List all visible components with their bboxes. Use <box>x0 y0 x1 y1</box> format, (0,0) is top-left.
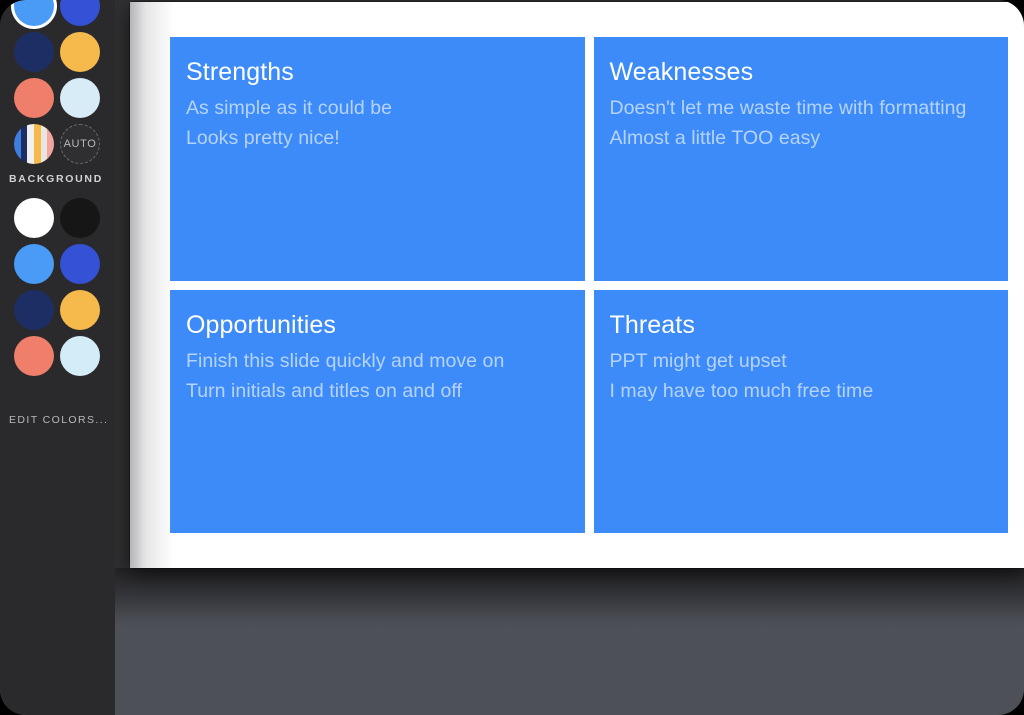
stripe-1 <box>21 124 28 164</box>
quadrant-title-threats: Threats <box>610 312 985 338</box>
theme-color-amber[interactable] <box>60 32 100 72</box>
workspace-area <box>0 568 1024 715</box>
theme-color-royal-blue[interactable] <box>60 0 100 26</box>
background-color-swatch-grid <box>14 198 100 376</box>
stripe-4 <box>41 124 48 164</box>
auto-label: AUTO <box>64 138 97 150</box>
quadrant-line-opportunities-1: Finish this slide quickly and move on <box>186 347 561 377</box>
stripe-3 <box>34 124 41 164</box>
stripe-0 <box>14 124 21 164</box>
slide-canvas[interactable]: Strengths As simple as it could be Looks… <box>130 2 1024 568</box>
theme-color-light-blue[interactable] <box>14 0 54 26</box>
background-color-dark-navy[interactable] <box>14 290 54 330</box>
window-shell: Strengths As simple as it could be Looks… <box>0 0 1024 715</box>
background-color-salmon[interactable] <box>14 336 54 376</box>
swot-grid: Strengths As simple as it could be Looks… <box>170 37 1008 533</box>
edit-colors-button[interactable]: EDIT COLORS... <box>9 414 108 426</box>
theme-color-auto[interactable]: AUTO <box>60 124 100 164</box>
slide-container[interactable]: Strengths As simple as it could be Looks… <box>130 2 1024 568</box>
quadrant-title-strengths: Strengths <box>186 59 561 85</box>
background-color-amber[interactable] <box>60 290 100 330</box>
quadrant-threats[interactable]: Threats PPT might get upset I may have t… <box>594 290 1009 534</box>
background-color-light-blue[interactable] <box>14 244 54 284</box>
quadrant-line-weaknesses-2: Almost a little TOO easy <box>610 124 985 154</box>
quadrant-line-threats-1: PPT might get upset <box>610 347 985 377</box>
stripe-2 <box>27 124 34 164</box>
quadrant-line-opportunities-2: Turn initials and titles on and off <box>186 377 561 407</box>
background-color-royal-blue[interactable] <box>60 244 100 284</box>
quadrant-opportunities[interactable]: Opportunities Finish this slide quickly … <box>170 290 585 534</box>
stripe-5 <box>47 124 54 164</box>
slide-edge-shadow <box>130 2 174 568</box>
quadrant-line-strengths-1: As simple as it could be <box>186 94 561 124</box>
quadrant-title-opportunities: Opportunities <box>186 312 561 338</box>
background-color-black[interactable] <box>60 198 100 238</box>
quadrant-line-threats-2: I may have too much free time <box>610 377 985 407</box>
background-color-pale-blue[interactable] <box>60 336 100 376</box>
app-root: Strengths As simple as it could be Looks… <box>0 0 1024 715</box>
quadrant-title-weaknesses: Weaknesses <box>610 59 985 85</box>
quadrant-line-weaknesses-1: Doesn't let me waste time with formattin… <box>610 94 985 124</box>
format-colors-panel[interactable]: AUTO BACKGROUND EDIT COLORS... <box>0 0 115 715</box>
quadrant-weaknesses[interactable]: Weaknesses Doesn't let me waste time wit… <box>594 37 1009 281</box>
background-section-label: BACKGROUND <box>9 173 103 185</box>
theme-color-pale-blue[interactable] <box>60 78 100 118</box>
panel-inner: AUTO BACKGROUND EDIT COLORS... <box>0 0 115 715</box>
quadrant-strengths[interactable]: Strengths As simple as it could be Looks… <box>170 37 585 281</box>
theme-color-salmon[interactable] <box>14 78 54 118</box>
quadrant-line-strengths-2: Looks pretty nice! <box>186 124 561 154</box>
theme-color-dark-navy[interactable] <box>14 32 54 72</box>
theme-color-swatch-grid: AUTO <box>14 0 100 164</box>
theme-color-multicolor[interactable] <box>14 124 54 164</box>
background-color-white[interactable] <box>14 198 54 238</box>
